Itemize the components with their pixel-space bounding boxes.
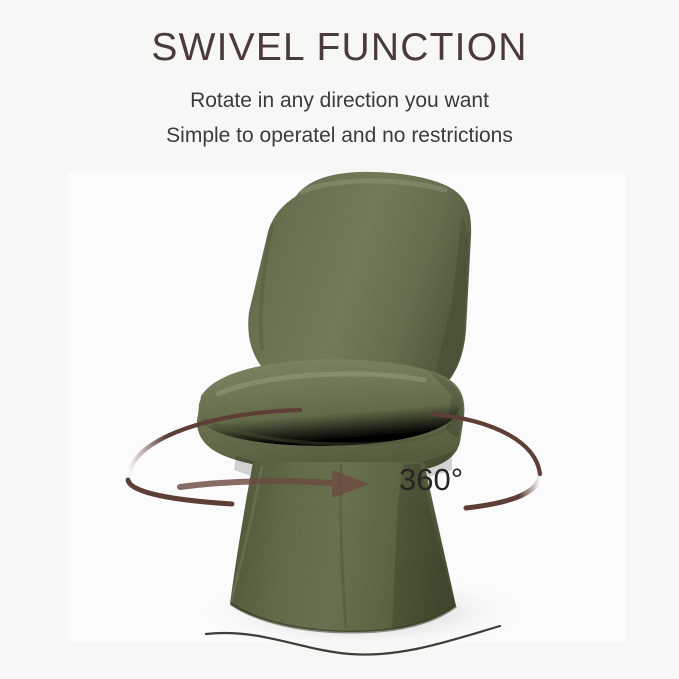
chair-pedestal-base [230, 462, 456, 632]
product-feature-image: SWIVEL FUNCTION Rotate in any direction … [0, 0, 679, 679]
chair-illustration [0, 0, 679, 679]
chair-svg [0, 0, 679, 679]
